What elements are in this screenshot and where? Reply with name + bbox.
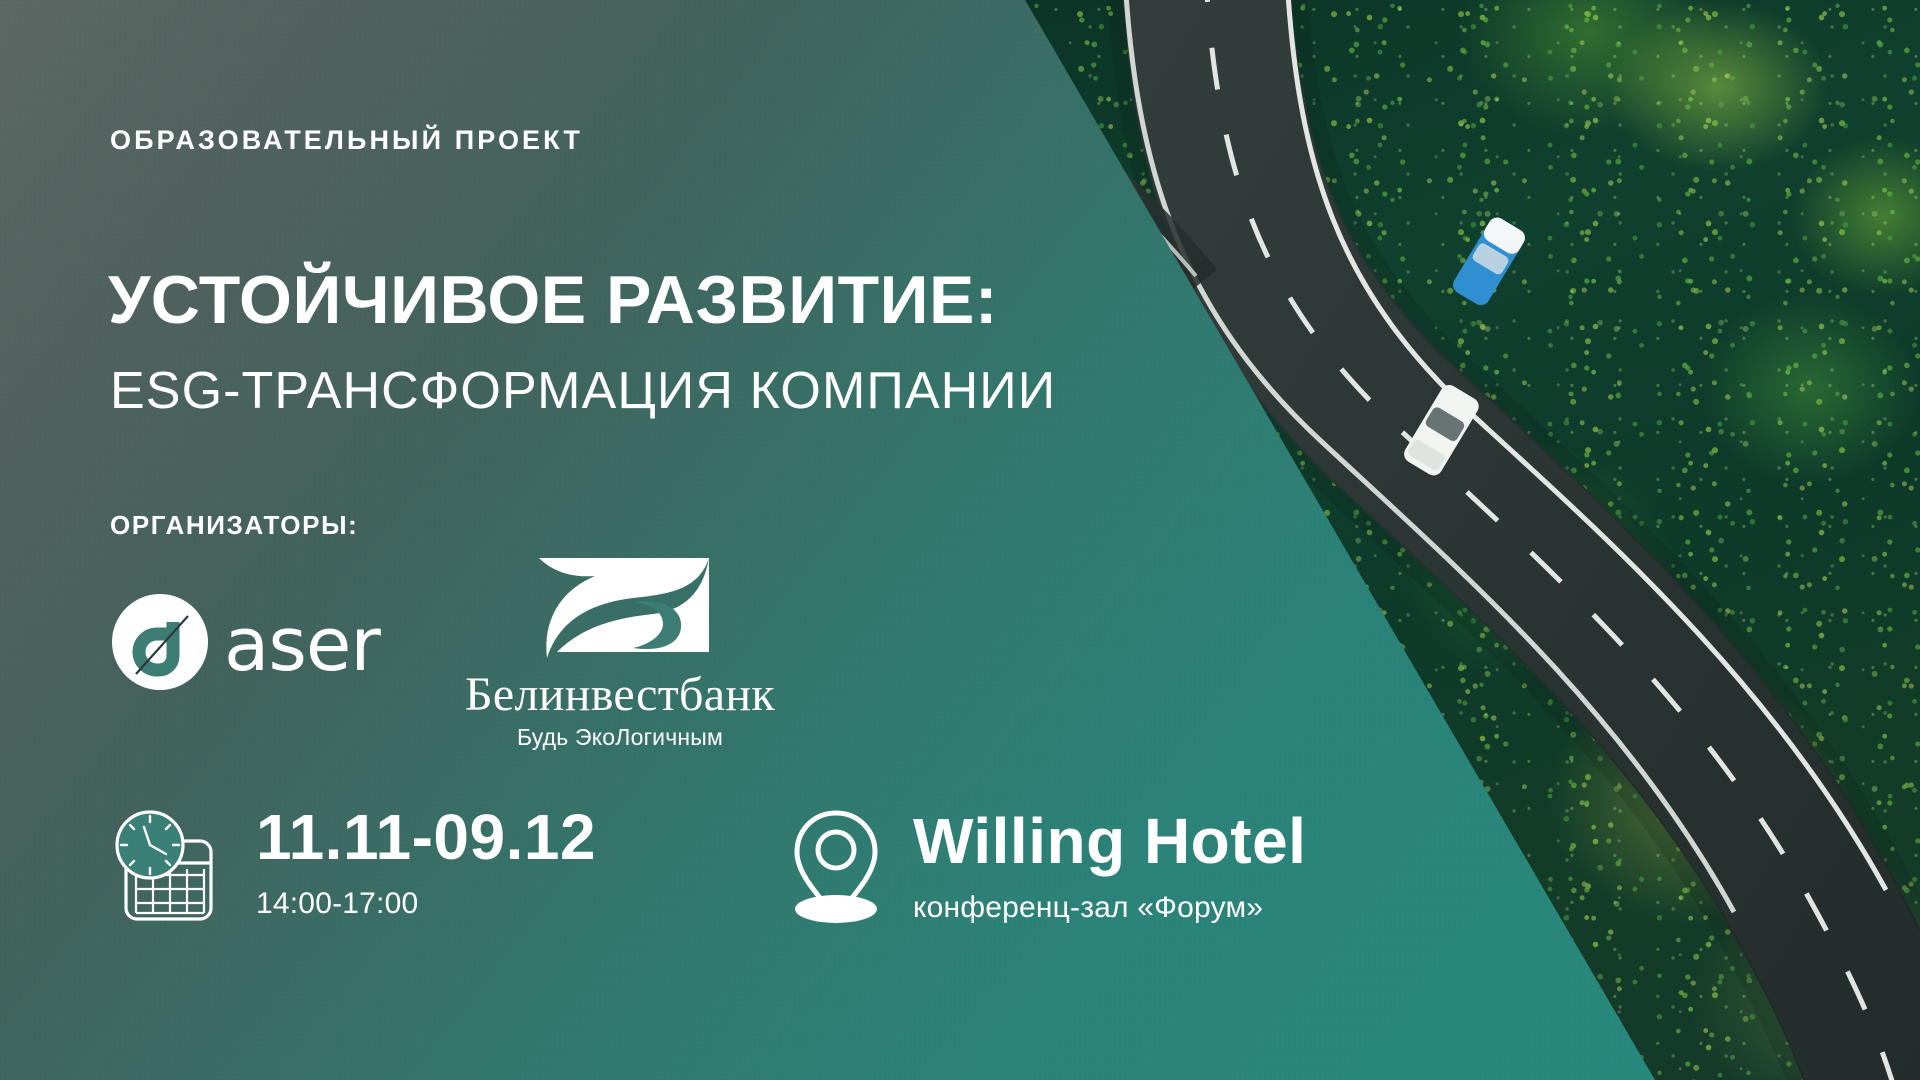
aser-wordmark: aser — [224, 608, 380, 682]
eyebrow-label: ОБРАЗОВАТЕЛЬНЫЙ ПРОЕКТ — [110, 125, 583, 156]
map-pin-icon — [785, 805, 887, 932]
event-date-block: 11.11-09.12 14:00-17:00 — [108, 805, 596, 932]
event-time-value: 14:00-17:00 — [256, 889, 596, 919]
page-subtitle: ESG-ТРАНСФОРМАЦИЯ КОМПАНИИ — [110, 365, 1056, 417]
poster-content: ОБРАЗОВАТЕЛЬНЫЙ ПРОЕКТ УСТОЙЧИВОЕ РАЗВИТ… — [0, 0, 1920, 1080]
page-title: УСТОЙЧИВОЕ РАЗВИТИЕ: — [108, 266, 998, 334]
organizers-label: ОРГАНИЗАТОРЫ: — [110, 510, 358, 541]
poster: ОБРАЗОВАТЕЛЬНЫЙ ПРОЕКТ УСТОЙЧИВОЕ РАЗВИТ… — [0, 0, 1920, 1080]
clock-calendar-icon — [108, 805, 226, 932]
event-venue-name: Willing Hotel — [913, 809, 1306, 873]
belinvestbank-wordmark: Белинвестбанк — [455, 670, 785, 720]
event-venue-hall: конференц-зал «Форум» — [913, 893, 1306, 923]
event-date-texts: 11.11-09.12 14:00-17:00 — [256, 805, 596, 919]
organizer-logo-belinvestbank: Белинвестбанк Будь ЭкоЛогичным — [455, 548, 785, 751]
event-date-value: 11.11-09.12 — [256, 805, 596, 869]
aser-circle-logo-icon — [110, 592, 210, 692]
event-venue-texts: Willing Hotel конференц-зал «Форум» — [913, 805, 1306, 923]
belinvestbank-tagline: Будь ЭкоЛогичным — [455, 724, 785, 751]
event-venue-block: Willing Hotel конференц-зал «Форум» — [785, 805, 1306, 932]
organizer-logo-aser: aser — [110, 592, 380, 692]
belinvestbank-leaf-logo-icon — [513, 548, 728, 668]
